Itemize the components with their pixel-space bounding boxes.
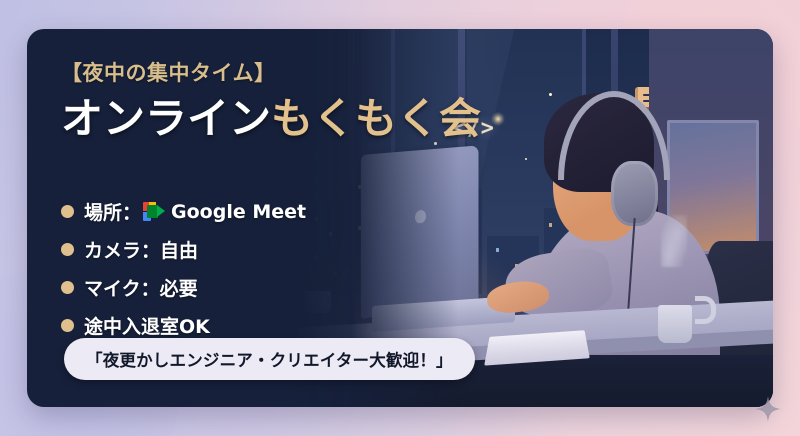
star xyxy=(549,93,552,96)
poster-card: </> xyxy=(27,29,773,407)
list-item: マイク：必要 xyxy=(61,274,355,301)
page-title: オンラインもくもく会 xyxy=(61,95,355,142)
list-item-label: 場所： xyxy=(84,198,141,225)
bullet-dot-icon xyxy=(61,319,74,332)
details-list: 場所： Google Meet カメラ：自由 マイク：必要 途中入退室OK xyxy=(61,198,355,339)
headphones-earcup-icon xyxy=(611,161,659,225)
bullet-dot-icon xyxy=(61,205,74,218)
coffee-steam xyxy=(661,215,687,267)
tagline-pill: 「夜更かしエンジニア・クリエイター大歓迎！」 xyxy=(64,338,475,380)
list-item-label: 途中入退室OK xyxy=(84,312,210,339)
coffee-mug xyxy=(658,305,692,343)
bullet-dot-icon xyxy=(61,281,74,294)
eyebrow-text: 【夜中の集中タイム】 xyxy=(61,57,355,87)
title-part-white: オンライン xyxy=(61,94,271,143)
list-item-label: カメラ：自由 xyxy=(84,236,198,263)
list-item: 途中入退室OK xyxy=(61,312,355,339)
bullet-dot-icon xyxy=(61,243,74,256)
poster-canvas: </> xyxy=(0,0,800,436)
title-part-gold: もくもく会 xyxy=(271,94,481,143)
list-item-value: Google Meet xyxy=(171,201,306,223)
sparkle-icon xyxy=(755,396,781,422)
list-item: カメラ：自由 xyxy=(61,236,355,263)
list-item: 場所： Google Meet xyxy=(61,198,355,225)
list-item-label: マイク：必要 xyxy=(84,274,198,301)
google-meet-icon xyxy=(143,202,165,221)
mug-handle xyxy=(695,296,716,324)
